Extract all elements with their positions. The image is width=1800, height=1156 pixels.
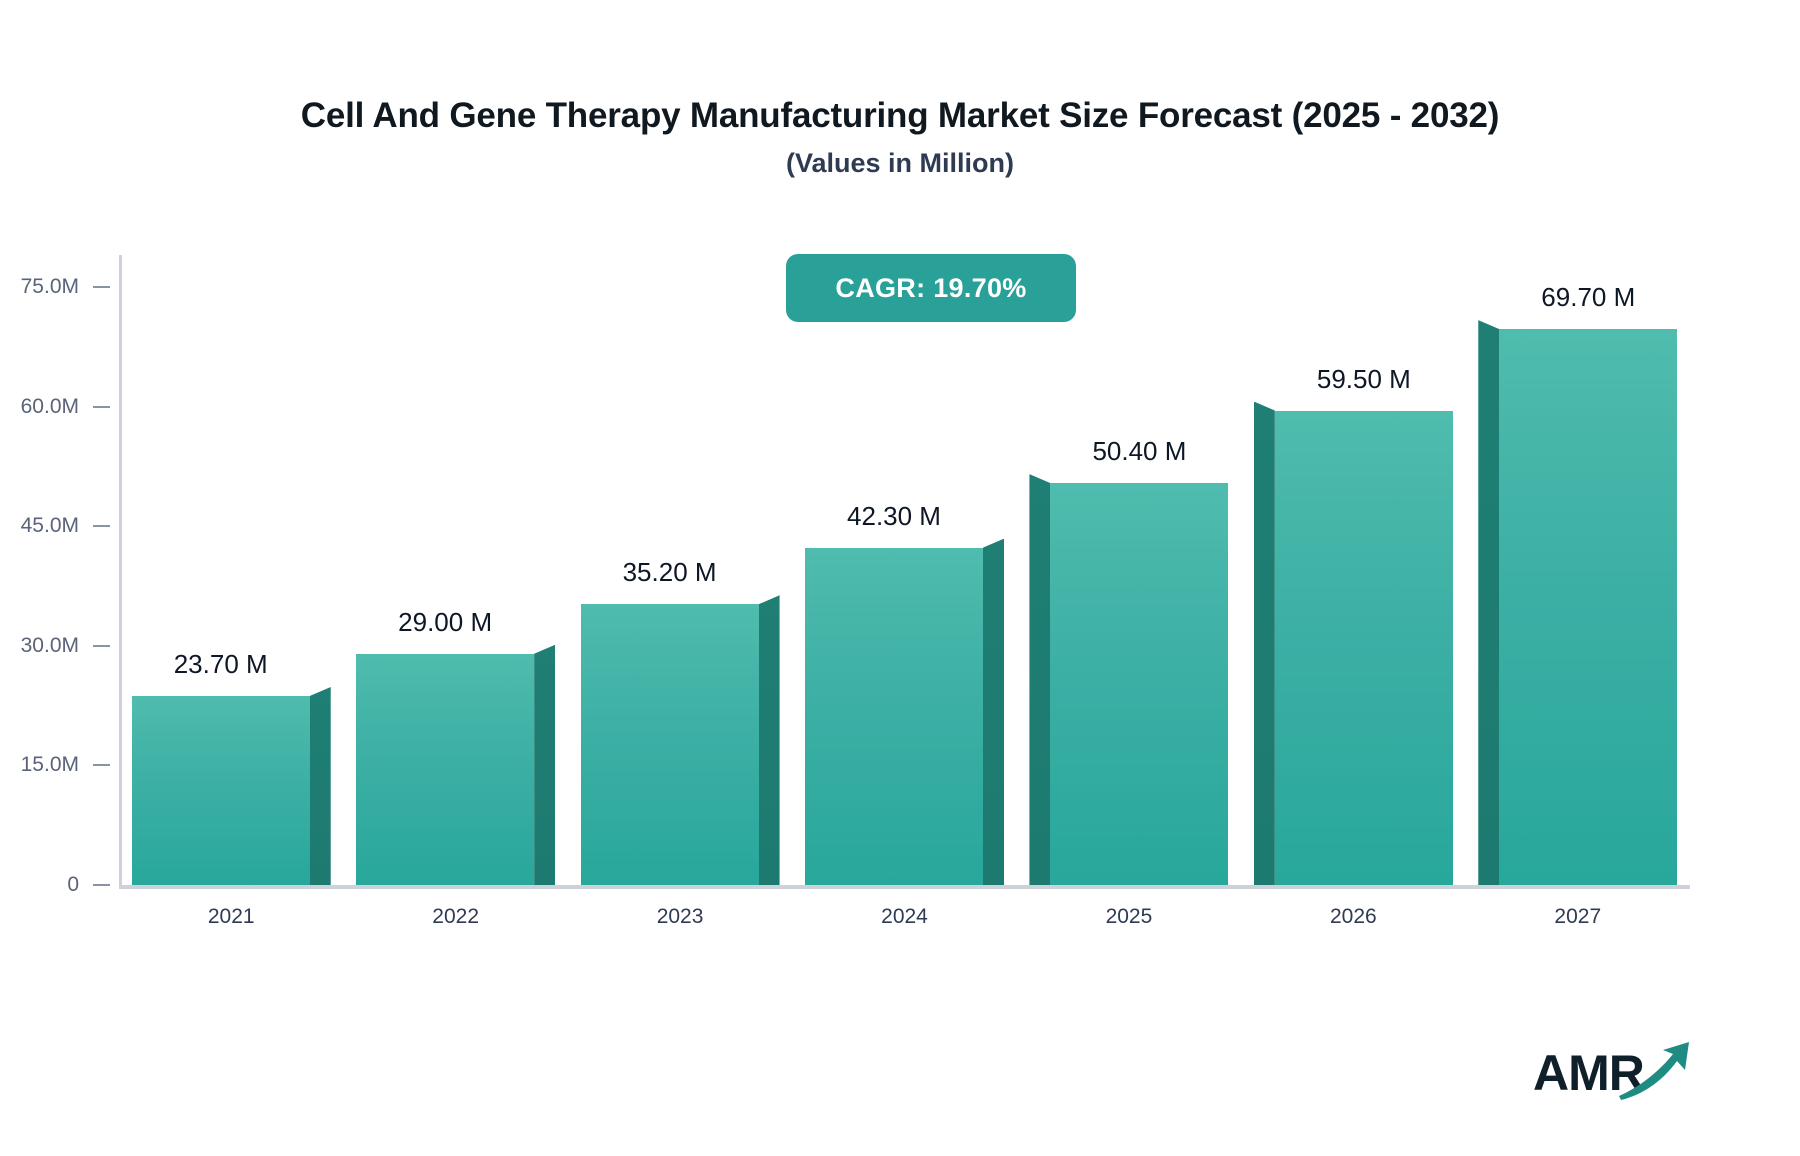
chart-subtitle: (Values in Million) — [0, 148, 1800, 179]
bar-value-label: 50.40 M — [1092, 436, 1186, 467]
x-axis-label-2024: 2024 — [881, 905, 928, 929]
bar-2025[interactable]: 50.40 M — [1050, 483, 1228, 885]
y-axis-tick: 0 — [67, 873, 119, 897]
bar-value-label: 29.00 M — [398, 607, 492, 638]
chart-page: Cell And Gene Therapy Manufacturing Mark… — [0, 0, 1800, 1156]
y-axis-tick: 45.0M — [21, 514, 119, 538]
y-axis-tick: 15.0M — [21, 753, 119, 777]
page-title: Cell And Gene Therapy Manufacturing Mark… — [0, 96, 1800, 136]
bar-value-label: 59.50 M — [1317, 364, 1411, 395]
bar-side-face — [1254, 402, 1275, 885]
bar-2022[interactable]: 29.00 M — [356, 654, 534, 885]
y-axis-tick: 60.0M — [21, 395, 119, 419]
y-axis-tick-label: 30.0M — [21, 634, 79, 658]
bar-value-label: 35.20 M — [623, 557, 717, 588]
bar-front-face — [132, 696, 310, 885]
y-axis-tick-mark — [93, 764, 110, 766]
y-axis-tick-mark — [93, 286, 110, 288]
plot-area: 015.0M30.0M45.0M60.0M75.0M 23.70 M29.00 … — [119, 255, 1690, 885]
x-axis-label-2022: 2022 — [432, 905, 479, 929]
bar-front-face — [1499, 329, 1677, 885]
y-axis-tick-label: 60.0M — [21, 395, 79, 419]
bar-value-label: 23.70 M — [174, 649, 268, 680]
y-axis-tick-mark — [93, 884, 110, 886]
y-axis-tick-label: 75.0M — [21, 275, 79, 299]
y-axis-tick-mark — [93, 645, 110, 647]
bar-side-face — [1478, 320, 1499, 885]
x-axis-label-2025: 2025 — [1106, 905, 1153, 929]
y-axis-tick: 30.0M — [21, 634, 119, 658]
x-axis-label-2021: 2021 — [208, 905, 255, 929]
y-axis-tick-label: 45.0M — [21, 514, 79, 538]
bar-front-face — [356, 654, 534, 885]
y-axis-tick-mark — [93, 525, 110, 527]
bar-value-label: 69.70 M — [1541, 282, 1635, 313]
x-axis-label-2026: 2026 — [1330, 905, 1377, 929]
bar-2023[interactable]: 35.20 M — [581, 604, 759, 885]
x-axis-label-2027: 2027 — [1554, 905, 1601, 929]
bar-2026[interactable]: 59.50 M — [1275, 411, 1453, 885]
bar-side-face — [759, 595, 780, 885]
x-axis-line — [119, 885, 1690, 889]
bar-2027[interactable]: 69.70 M — [1499, 329, 1677, 885]
amr-logo: AMR — [1533, 1040, 1693, 1110]
y-axis-tick-mark — [93, 406, 110, 408]
bar-2021[interactable]: 23.70 M — [132, 696, 310, 885]
y-axis-tick-label: 0 — [67, 873, 79, 897]
growth-arrow-icon — [1617, 1040, 1693, 1102]
bar-side-face — [983, 539, 1004, 885]
x-axis-label-2023: 2023 — [657, 905, 704, 929]
y-axis-tick-label: 15.0M — [21, 753, 79, 777]
bar-side-face — [310, 687, 331, 885]
bar-front-face — [1275, 411, 1453, 885]
bar-front-face — [805, 548, 983, 885]
bar-value-label: 42.30 M — [847, 501, 941, 532]
bar-side-face — [1029, 474, 1050, 885]
bar-front-face — [1050, 483, 1228, 885]
bar-2024[interactable]: 42.30 M — [805, 548, 983, 885]
y-axis-tick: 75.0M — [21, 275, 119, 299]
bar-front-face — [581, 604, 759, 885]
bar-side-face — [534, 645, 555, 885]
